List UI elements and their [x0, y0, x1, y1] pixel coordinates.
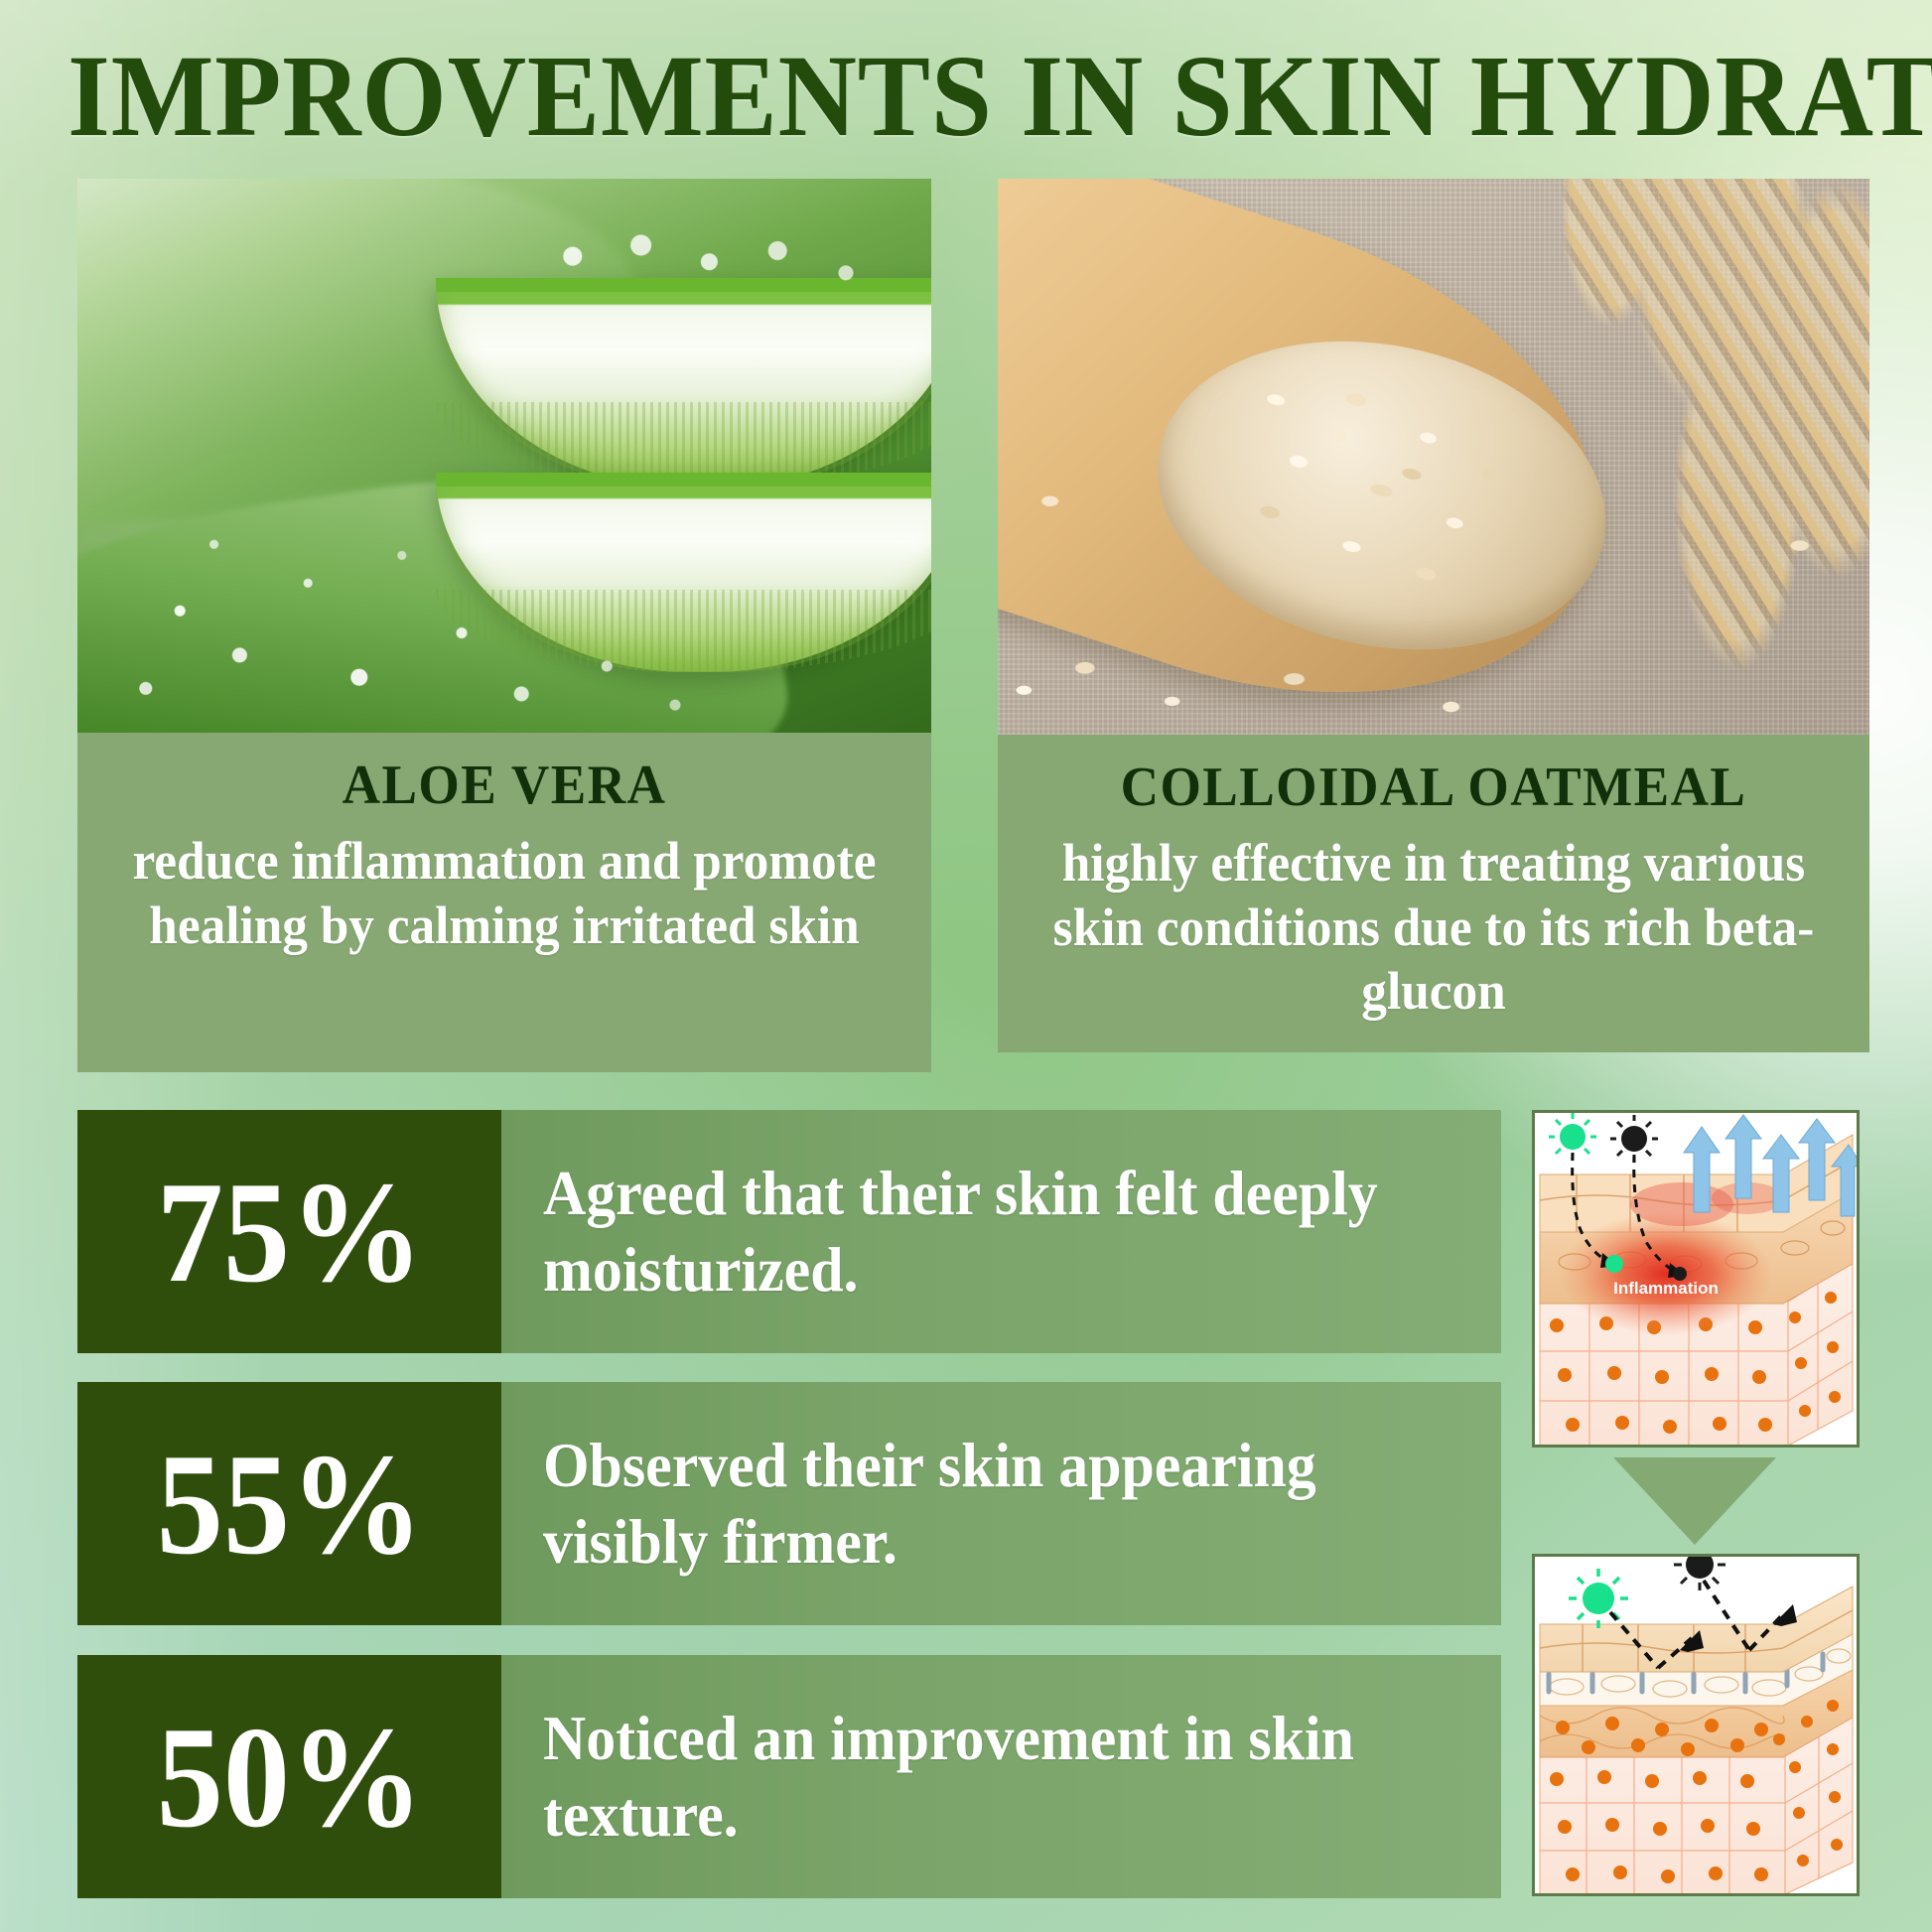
healthy-skin-illustration — [1535, 1557, 1860, 1896]
stat-claim-panel: Agreed that their skin felt deeply moist… — [501, 1110, 1501, 1353]
ingredient-card-colloidal-oatmeal: COLLOIDAL OATMEAL highly effective in tr… — [998, 179, 1869, 1052]
stat-claim-text: Noticed an improvement in skin texture. — [543, 1701, 1431, 1854]
stat-row: 55% Observed their skin appearing visibl… — [77, 1382, 1501, 1625]
stat-claim-text: Agreed that their skin felt deeply moist… — [543, 1156, 1431, 1309]
inflamed-skin-diagram: Inflammation — [1532, 1110, 1860, 1448]
stat-claim-panel: Noticed an improvement in skin texture. — [501, 1655, 1501, 1898]
water-droplets-overlay — [77, 179, 931, 733]
ingredient-card-aloe-vera: ALOE VERA reduce inflammation and promot… — [77, 179, 931, 1072]
stat-percentage-box: 50% — [77, 1655, 501, 1898]
aloe-vera-photo — [77, 179, 931, 733]
aloe-vera-caption: ALOE VERA reduce inflammation and promot… — [77, 733, 931, 1072]
down-arrow-divider-icon — [1613, 1457, 1776, 1545]
page-title: IMPROVEMENTS IN SKIN HYDRATION — [68, 38, 1864, 155]
colloidal-oatmeal-photo — [998, 179, 1869, 735]
stat-row: 50% Noticed an improvement in skin textu… — [77, 1655, 1501, 1898]
ingredient-description: highly effective in treating various ski… — [1036, 831, 1831, 1024]
stat-percentage-box: 55% — [77, 1382, 501, 1625]
inflamed-skin-illustration: Inflammation — [1535, 1113, 1860, 1448]
ingredient-name-label: ALOE VERA — [116, 755, 894, 817]
stat-percentage-value: 50% — [156, 1705, 423, 1850]
stat-percentage-value: 55% — [156, 1432, 423, 1577]
ingredient-name-label: COLLOIDAL OATMEAL — [1036, 757, 1831, 819]
stat-percentage-value: 75% — [156, 1160, 423, 1305]
stat-row: 75% Agreed that their skin felt deeply m… — [77, 1110, 1501, 1353]
stat-claim-panel: Observed their skin appearing visibly fi… — [501, 1382, 1501, 1625]
stat-percentage-box: 75% — [77, 1110, 501, 1353]
scattered-oat-crumbs — [998, 179, 1869, 735]
colloidal-oatmeal-caption: COLLOIDAL OATMEAL highly effective in tr… — [998, 735, 1869, 1052]
ingredient-description: reduce inflammation and promote healing … — [116, 829, 894, 958]
healthy-skin-barrier-diagram — [1532, 1554, 1860, 1896]
inflammation-label: Inflammation — [1613, 1279, 1719, 1298]
stat-claim-text: Observed their skin appearing visibly fi… — [543, 1428, 1431, 1581]
